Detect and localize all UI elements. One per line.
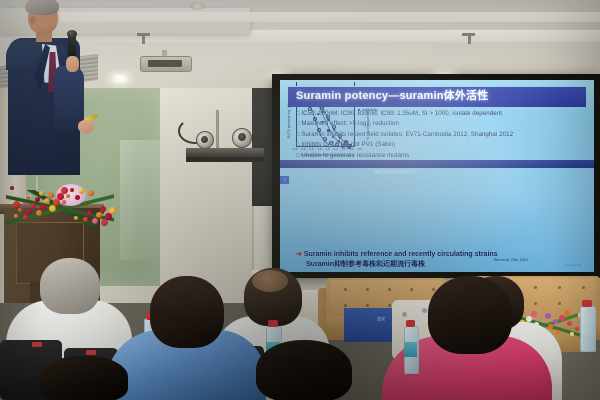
sofa-tuft-button [366, 304, 369, 307]
flower-blossom [92, 218, 98, 224]
conclusion-line-1: ➔ Suramin inhibits reference and recentl… [296, 250, 588, 260]
speaker-hair [25, 0, 59, 15]
bottle-cap [582, 300, 592, 307]
speaker-ear [30, 16, 36, 24]
flower-blossom [18, 208, 22, 212]
slide-footer-text: 国家卫生和计划生育委员会 [280, 168, 510, 176]
podium-floral-arrangement [6, 176, 114, 228]
flower-blossom [44, 198, 50, 204]
attendee-foreground-left [40, 356, 128, 400]
slide-citation: Ren et al., EMI, 2014 [494, 258, 528, 262]
camera-shelf [186, 148, 264, 157]
bottle-cap [268, 320, 278, 327]
flower-blossom [61, 187, 68, 194]
sofa-tuft-button [534, 286, 537, 289]
flower-blossom [545, 313, 551, 319]
attendee-foreground-center [256, 340, 352, 400]
sofa-tuft-button [410, 288, 413, 291]
flower-blossom [26, 196, 30, 200]
flower-blossom [74, 216, 78, 220]
speaker-hand-gesturing [78, 120, 94, 133]
flower-blossom [48, 192, 54, 198]
arrow-icon: ➔ [296, 251, 302, 258]
flower-blossom [101, 219, 108, 226]
sofa-tuft-button [344, 304, 347, 307]
speaker-arm [54, 66, 84, 130]
flower-blossom [83, 217, 88, 222]
flower-blossom [62, 200, 66, 204]
chart-ylabel: EV71 genome eq. (%) [287, 103, 291, 138]
conclusion-text-2: Suramin抑制参考毒株和近期流行毒株 [296, 260, 588, 270]
attendee-head [150, 276, 224, 348]
conclusion-text-1: Suramin inhibits reference and recently … [304, 251, 498, 258]
slide-bullet: Inhibits CA16 but not PV1 (Sabin) [296, 140, 588, 150]
glass-reflection [120, 140, 160, 260]
ceiling-downlight [110, 74, 130, 83]
flower-blossom [526, 316, 532, 322]
flower-blossom [548, 324, 553, 329]
water-bottle [580, 306, 596, 352]
conference-room-photo: (a) EV71 genome eq. (%) % Vero/plaque BP… [0, 0, 600, 400]
slide-bullet: Suramin inhibits recent field isolates: … [296, 130, 588, 140]
sofa-tuft-button [344, 288, 347, 291]
flower-blossom [35, 197, 40, 202]
flower-blossom [49, 205, 56, 212]
camera-lens-icon [238, 133, 246, 141]
ceiling-cove-light [60, 12, 600, 22]
flower-blossom [96, 212, 102, 218]
camera-lens-icon [201, 136, 208, 143]
attendee-head [428, 276, 512, 354]
flower-blossom [10, 186, 14, 190]
flower-blossom [100, 206, 106, 212]
slide-bullet: Maximum effect: >5 log₁₀ reduction [296, 119, 588, 129]
flower-blossom [36, 210, 42, 216]
flower-blossom [75, 195, 80, 200]
dark-wall-panel [252, 88, 274, 206]
slide-page-number: 7 [280, 176, 289, 184]
camera-pole [216, 110, 219, 150]
speaker-hand-holding-mic [66, 56, 79, 72]
flower-blossom [39, 191, 44, 196]
ceiling-hook [468, 33, 471, 44]
flower-blossom [57, 193, 64, 200]
ceiling-hook [142, 33, 145, 44]
flower-blossom [559, 315, 565, 321]
slide-bullet: Unable to generate resistance mutants [296, 151, 588, 161]
slide-footer-bar [280, 160, 594, 168]
flower-blossom [556, 330, 560, 334]
flower-blossom [31, 203, 36, 208]
projector-lens [148, 60, 182, 67]
cloth-pattern-dot [422, 308, 427, 313]
chair-tag [86, 350, 96, 355]
flower-blossom [570, 332, 574, 336]
sofa-tuft-button [558, 286, 561, 289]
flower-blossom [22, 202, 26, 206]
sofa-tuft-button [366, 288, 369, 291]
flower-blossom [88, 190, 94, 196]
flower-blossom [70, 188, 74, 192]
flower-blossom [23, 215, 28, 220]
flower-blossom [53, 199, 60, 206]
flower-blossom [27, 209, 32, 214]
slide-title: Suramin potency—suramin体外活性 [296, 88, 586, 105]
flower-blossom [14, 214, 18, 218]
chair-tag [32, 342, 42, 347]
attendee-scalp [252, 270, 288, 292]
flower-blossom [575, 327, 579, 331]
smoke-detector-icon [190, 2, 205, 10]
sofa-tuft-button [582, 286, 585, 289]
attendee-head [40, 258, 100, 314]
slide-conclusion: ➔ Suramin inhibits reference and recentl… [296, 250, 588, 270]
cloth-pattern-dot [402, 312, 407, 317]
confidential-note: Confidential [565, 263, 581, 267]
sofa-tuft-button [432, 288, 435, 291]
flower-blossom [109, 207, 116, 214]
slide-bullet: IC50: 100nM; IC90: 830nM, IC99: 1.35uM, … [296, 109, 588, 119]
flower-blossom [66, 194, 70, 198]
camera-shelf-front [186, 157, 264, 162]
bottle-label [404, 342, 417, 357]
sofa-tuft-button [388, 304, 391, 307]
sofa-tuft-button [388, 288, 391, 291]
flower-blossom [567, 321, 572, 326]
microphone-head-icon [67, 30, 77, 38]
slide-bullet-list: IC50: 100nM; IC90: 830nM, IC99: 1.35uM, … [296, 109, 588, 161]
flower-blossom [40, 204, 46, 210]
flower-blossom [79, 189, 84, 194]
flower-blossom [105, 213, 112, 220]
bottle-cap [406, 320, 415, 327]
flower-blossom [531, 311, 537, 317]
flower-blossom [553, 319, 558, 324]
flower-blossom [87, 211, 92, 216]
flower-blossom [13, 201, 20, 208]
flower-blossom [564, 310, 570, 316]
